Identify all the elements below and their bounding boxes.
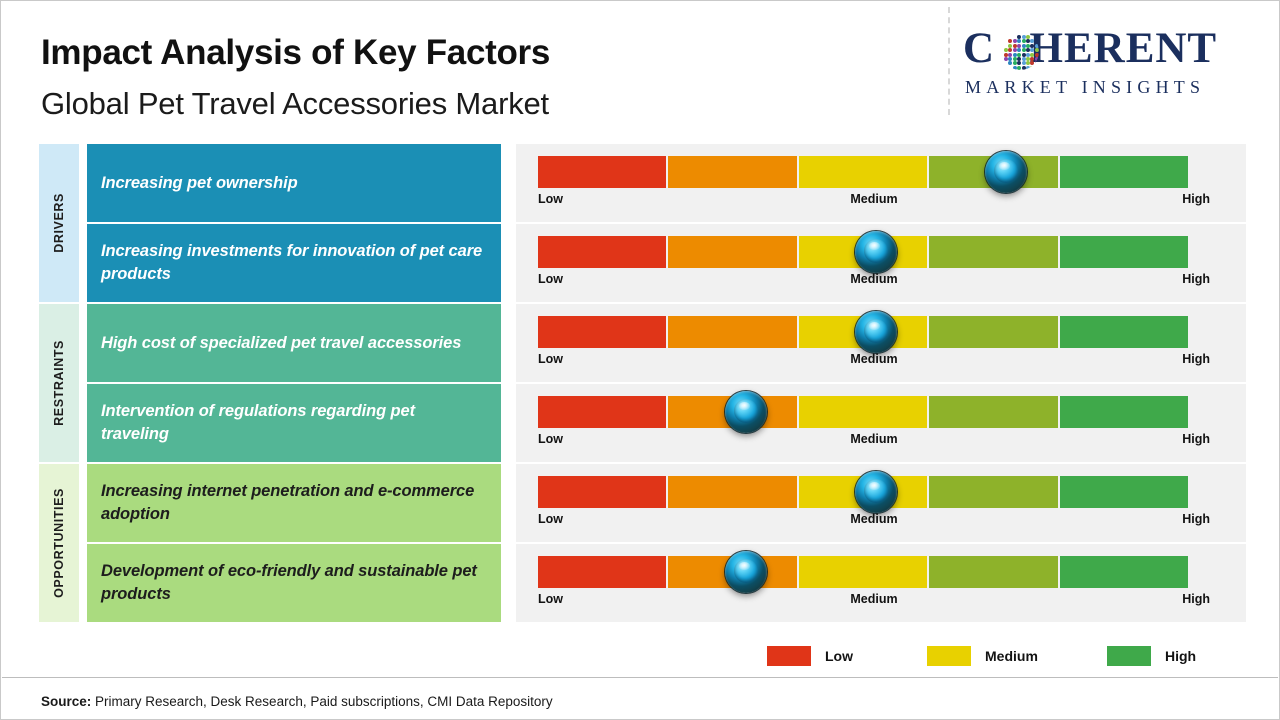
footer-divider (2, 677, 1278, 678)
logo-word-c: C (963, 25, 995, 72)
gauge-segment-1 (538, 316, 666, 348)
scale-label-low: Low (538, 192, 563, 206)
scale-label-low: Low (538, 592, 563, 606)
factor-box[interactable]: Intervention of regulations regarding pe… (87, 384, 501, 462)
gauge-segment-2 (668, 156, 796, 188)
gauge-segment-3 (799, 156, 927, 188)
factor-label: Increasing internet penetration and e-co… (101, 480, 487, 526)
gauge-segment-2 (668, 316, 796, 348)
factor-label: Increasing pet ownership (101, 172, 298, 195)
infographic-page: Impact Analysis of Key Factors Global Pe… (0, 0, 1280, 720)
legend-item-medium: Medium (927, 646, 1038, 666)
category-tab-drivers: DRIVERS (39, 144, 79, 302)
logo-word-herent: HERENT (1030, 25, 1218, 72)
category-tab-label: OPPORTUNITIES (52, 488, 66, 598)
legend-label: Medium (985, 648, 1038, 664)
gauge-segment-5 (1060, 476, 1188, 508)
scale-label-high: High (1182, 272, 1210, 286)
legend-label: High (1165, 648, 1196, 664)
legend-swatch (767, 646, 811, 666)
gauge-segment-5 (1060, 556, 1188, 588)
logo-tagline: MARKET INSIGHTS (965, 77, 1265, 98)
gauge-segment-1 (538, 556, 666, 588)
impact-gauge: LowMediumHigh (516, 464, 1246, 542)
factor-label: Development of eco-friendly and sustaina… (101, 560, 487, 606)
legend-item-low: Low (767, 646, 853, 666)
gauge-segment-5 (1060, 156, 1188, 188)
page-title: Impact Analysis of Key Factors (41, 33, 550, 73)
scale-label-low: Low (538, 432, 563, 446)
scale-label-low: Low (538, 512, 563, 526)
gauge-bar (538, 556, 1188, 588)
gauge-segment-4 (929, 236, 1057, 268)
gauge-scale-labels: LowMediumHigh (538, 352, 1210, 370)
scale-label-high: High (1182, 512, 1210, 526)
gauge-segment-1 (538, 156, 666, 188)
gauge-segment-4 (929, 556, 1057, 588)
category-tab-restraints: RESTRAINTS (39, 304, 79, 462)
gauge-segment-5 (1060, 396, 1188, 428)
impact-gauge: LowMediumHigh (516, 304, 1246, 382)
header-divider (948, 7, 950, 115)
impact-gauge: LowMediumHigh (516, 144, 1246, 222)
gauge-segment-2 (668, 236, 796, 268)
factor-label: Intervention of regulations regarding pe… (101, 400, 487, 446)
category-tab-label: DRIVERS (52, 193, 66, 253)
scale-label-medium: Medium (850, 192, 897, 206)
impact-gauge: LowMediumHigh (516, 224, 1246, 302)
impact-marker[interactable] (855, 231, 897, 273)
scale-label-low: Low (538, 272, 563, 286)
scale-label-high: High (1182, 352, 1210, 366)
impact-gauge: LowMediumHigh (516, 544, 1246, 622)
gauge-segment-4 (929, 316, 1057, 348)
factor-box[interactable]: Increasing investments for innovation of… (87, 224, 501, 302)
scale-label-medium: Medium (850, 592, 897, 606)
impact-marker[interactable] (855, 311, 897, 353)
factor-label: High cost of specialized pet travel acce… (101, 332, 461, 355)
gauge-segment-1 (538, 396, 666, 428)
gauge-segment-3 (799, 396, 927, 428)
gauge-scale-labels: LowMediumHigh (538, 512, 1210, 530)
legend-item-high: High (1107, 646, 1196, 666)
factor-box[interactable]: Increasing pet ownership (87, 144, 501, 222)
gauge-segment-5 (1060, 316, 1188, 348)
scale-label-medium: Medium (850, 512, 897, 526)
source-note: Source: Primary Research, Desk Research,… (41, 694, 553, 709)
scale-label-high: High (1182, 432, 1210, 446)
category-tab-label: RESTRAINTS (52, 340, 66, 426)
source-text: Primary Research, Desk Research, Paid su… (91, 694, 552, 709)
gauge-segment-2 (668, 476, 796, 508)
gauge-scale-labels: LowMediumHigh (538, 272, 1210, 290)
legend-swatch (927, 646, 971, 666)
scale-label-medium: Medium (850, 272, 897, 286)
legend-label: Low (825, 648, 853, 664)
gauge-segment-4 (929, 396, 1057, 428)
impact-marker[interactable] (725, 551, 767, 593)
factor-label: Increasing investments for innovation of… (101, 240, 487, 286)
gauge-segment-1 (538, 236, 666, 268)
source-label: Source: (41, 694, 91, 709)
globe-icon (1002, 33, 1039, 70)
impact-marker[interactable] (985, 151, 1027, 193)
scale-label-high: High (1182, 592, 1210, 606)
gauge-bar (538, 156, 1188, 188)
gauge-segment-1 (538, 476, 666, 508)
scale-label-medium: Medium (850, 432, 897, 446)
category-tab-opportunities: OPPORTUNITIES (39, 464, 79, 622)
factor-box[interactable]: High cost of specialized pet travel acce… (87, 304, 501, 382)
coherent-market-insights-logo: COHERENT MARKET INSIGHTS (963, 25, 1263, 107)
gauge-segment-4 (929, 476, 1057, 508)
gauge-bar (538, 396, 1188, 428)
impact-marker[interactable] (725, 391, 767, 433)
impact-marker[interactable] (855, 471, 897, 513)
factor-box[interactable]: Increasing internet penetration and e-co… (87, 464, 501, 542)
scale-label-high: High (1182, 192, 1210, 206)
gauge-segment-3 (799, 556, 927, 588)
page-subtitle: Global Pet Travel Accessories Market (41, 86, 549, 122)
scale-label-low: Low (538, 352, 563, 366)
legend-swatch (1107, 646, 1151, 666)
impact-gauge: LowMediumHigh (516, 384, 1246, 462)
scale-label-medium: Medium (850, 352, 897, 366)
gauge-scale-labels: LowMediumHigh (538, 432, 1210, 450)
gauge-scale-labels: LowMediumHigh (538, 192, 1210, 210)
gauge-segment-5 (1060, 236, 1188, 268)
gauge-scale-labels: LowMediumHigh (538, 592, 1210, 610)
factor-box[interactable]: Development of eco-friendly and sustaina… (87, 544, 501, 622)
